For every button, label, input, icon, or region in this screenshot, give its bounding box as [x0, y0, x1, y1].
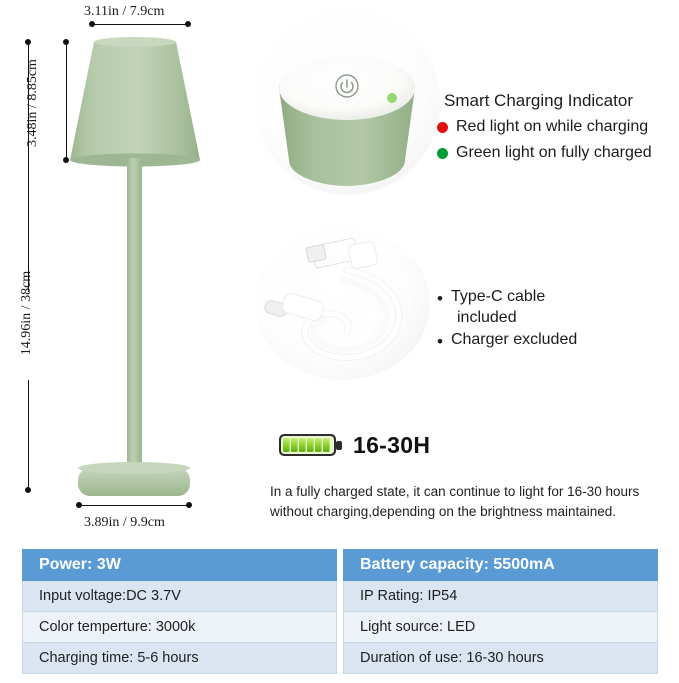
dimension-rule-shade-width — [92, 24, 188, 25]
led-indicator-dot — [387, 93, 397, 103]
dimension-dot — [25, 39, 31, 45]
charging-base-photo — [255, 10, 440, 195]
specification-table: Power: 3W Input voltage:DC 3.7V Color te… — [22, 549, 658, 674]
dimension-dot — [25, 487, 31, 493]
battery-runtime-row: 16-30H — [278, 430, 430, 460]
type-c-connector — [263, 292, 324, 322]
spec-row-color-temperature: Color temperture: 3000k — [22, 612, 337, 643]
cable-included-label: Type-C cable — [451, 288, 545, 306]
spec-row-ip-rating: IP Rating: IP54 — [343, 581, 658, 612]
spec-column-right: Battery capacity: 5500mA IP Rating: IP54… — [343, 549, 658, 674]
battery-hours-label: 16-30H — [353, 432, 430, 459]
dimension-dot — [76, 502, 82, 508]
dimension-dot — [63, 39, 69, 45]
usb-cable-photo — [255, 228, 430, 380]
cable-included-row: • Type-C cable — [437, 288, 545, 307]
indicator-green-row: Green light on fully charged — [437, 144, 652, 162]
indicator-green-label: Green light on fully charged — [456, 144, 652, 162]
spec-header-power: Power: 3W — [22, 549, 337, 581]
dimension-rule-total-lower — [28, 380, 29, 490]
cable-included-label-2: included — [457, 309, 517, 327]
dimension-rule-shade-height — [66, 42, 67, 161]
spec-row-duration-of-use: Duration of use: 16-30 hours — [343, 643, 658, 674]
charger-excluded-label: Charger excluded — [451, 331, 577, 349]
battery-icon — [278, 430, 344, 460]
dimension-total-height: 14.96in / 38cm — [19, 248, 35, 378]
dimension-dot — [186, 502, 192, 508]
usb-a-connector — [306, 238, 378, 270]
spec-row-light-source: Light source: LED — [343, 612, 658, 643]
dimension-rule-total-upper — [28, 42, 29, 292]
red-led-icon — [437, 122, 448, 133]
bullet-icon: • — [437, 333, 443, 350]
charger-excluded-row: • Charger excluded — [437, 331, 577, 350]
spec-column-left: Power: 3W Input voltage:DC 3.7V Color te… — [22, 549, 337, 674]
product-infographic: 3.11in / 7.9cm 3.48in / 8.85cm 14.96in /… — [0, 0, 679, 683]
indicator-red-row: Red light on while charging — [437, 118, 648, 136]
green-led-icon — [437, 148, 448, 159]
dimension-base-width: 3.89in / 9.9cm — [84, 515, 165, 531]
battery-runtime-note: In a fully charged state, it can continu… — [270, 482, 674, 523]
spec-row-charging-time: Charging time: 5-6 hours — [22, 643, 337, 674]
spec-header-battery-capacity: Battery capacity: 5500mA — [343, 549, 658, 581]
spec-row-input-voltage: Input voltage:DC 3.7V — [22, 581, 337, 612]
infographic-upper: 3.11in / 7.9cm 3.48in / 8.85cm 14.96in /… — [0, 0, 679, 545]
dimension-dot — [89, 21, 95, 27]
bullet-icon: • — [437, 290, 443, 307]
dimension-dot — [185, 21, 191, 27]
smart-charging-title: Smart Charging Indicator — [444, 91, 633, 111]
dimension-dot — [63, 157, 69, 163]
indicator-red-label: Red light on while charging — [456, 118, 648, 136]
dimension-shade-width: 3.11in / 7.9cm — [84, 4, 164, 20]
dimension-rule-base-width — [79, 505, 189, 506]
